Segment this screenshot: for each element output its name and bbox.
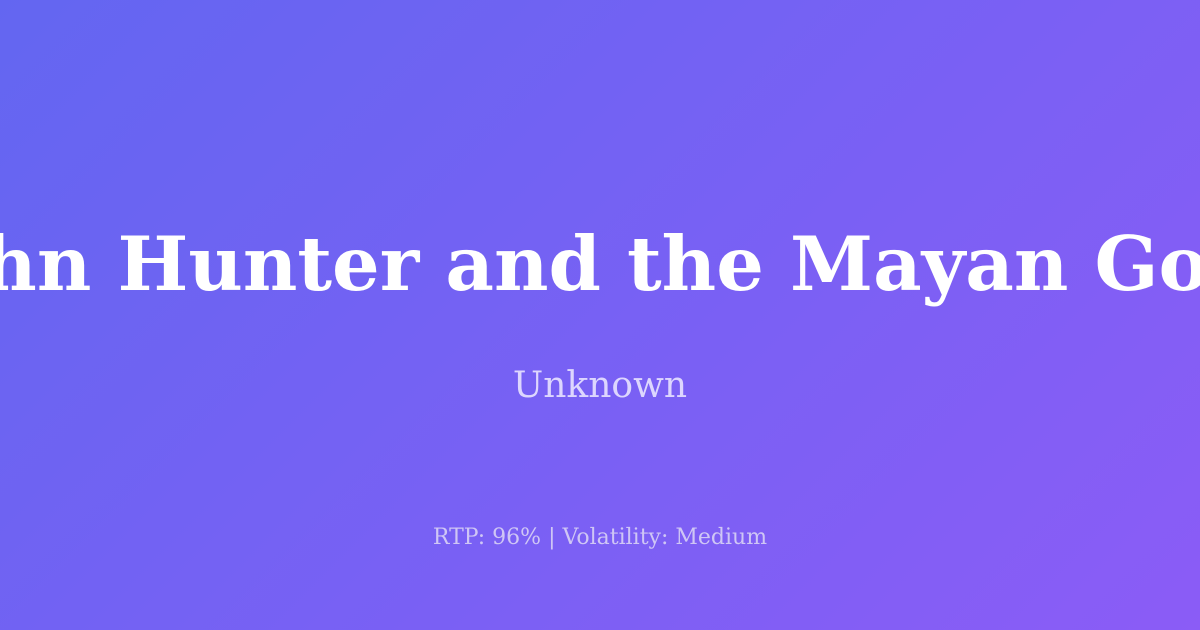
game-stats-line: RTP: 96% | Volatility: Medium xyxy=(0,524,1200,553)
page-title: John Hunter and the Mayan Gods xyxy=(0,227,1200,340)
game-provider-label: Unknown xyxy=(0,363,1200,408)
og-preview-card: John Hunter and the Mayan Gods Unknown R… xyxy=(0,0,1200,630)
title-container: John Hunter and the Mayan Gods xyxy=(0,0,1200,340)
